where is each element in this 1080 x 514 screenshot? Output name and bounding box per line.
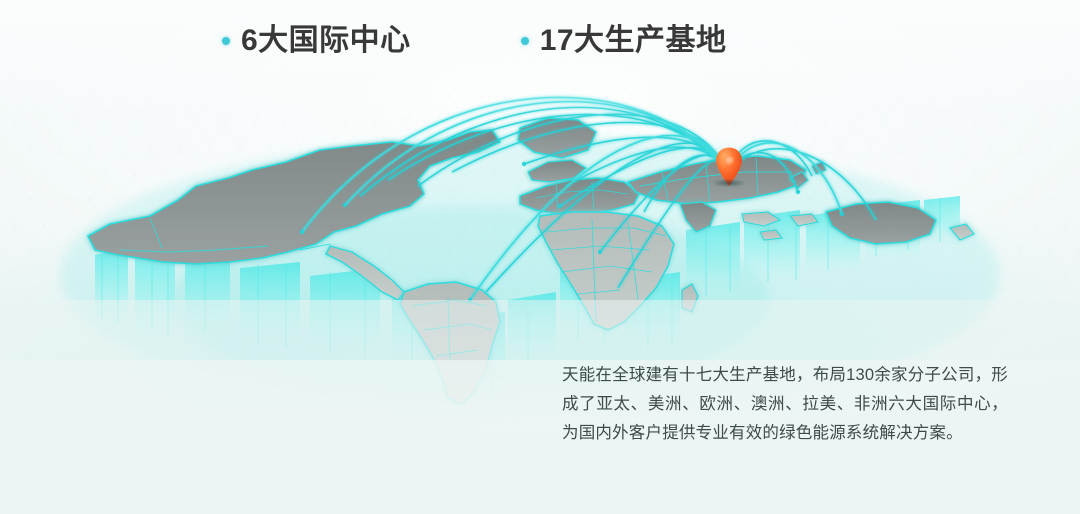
continent-north-america <box>88 118 596 300</box>
bullet-dot-icon <box>521 37 529 45</box>
continent-europe <box>520 160 640 214</box>
heading-label-1: 6大国际中心 <box>241 24 411 57</box>
heading-label-2: 17大生产基地 <box>540 24 727 57</box>
infographic-page: 6大国际中心 17大生产基地 天能在全球建有十七大生产基地，布局130余家分子公… <box>0 0 1080 514</box>
top-fade-overlay <box>0 0 1080 120</box>
map-marker-pin[interactable] <box>714 146 744 188</box>
pin-shadow <box>705 177 753 189</box>
continent-australia <box>826 202 974 244</box>
description-paragraph: 天能在全球建有十七大生产基地，布局130余家分子公司，形成了亚太、美洲、欧洲、澳… <box>562 361 1008 448</box>
continent-south-america <box>400 282 500 404</box>
continent-africa <box>538 212 698 330</box>
heading-row: 6大国际中心 17大生产基地 <box>222 24 727 57</box>
heading-international-centers: 6大国际中心 <box>222 24 411 57</box>
heading-production-bases: 17大生产基地 <box>521 24 727 57</box>
bullet-dot-icon <box>222 37 230 45</box>
